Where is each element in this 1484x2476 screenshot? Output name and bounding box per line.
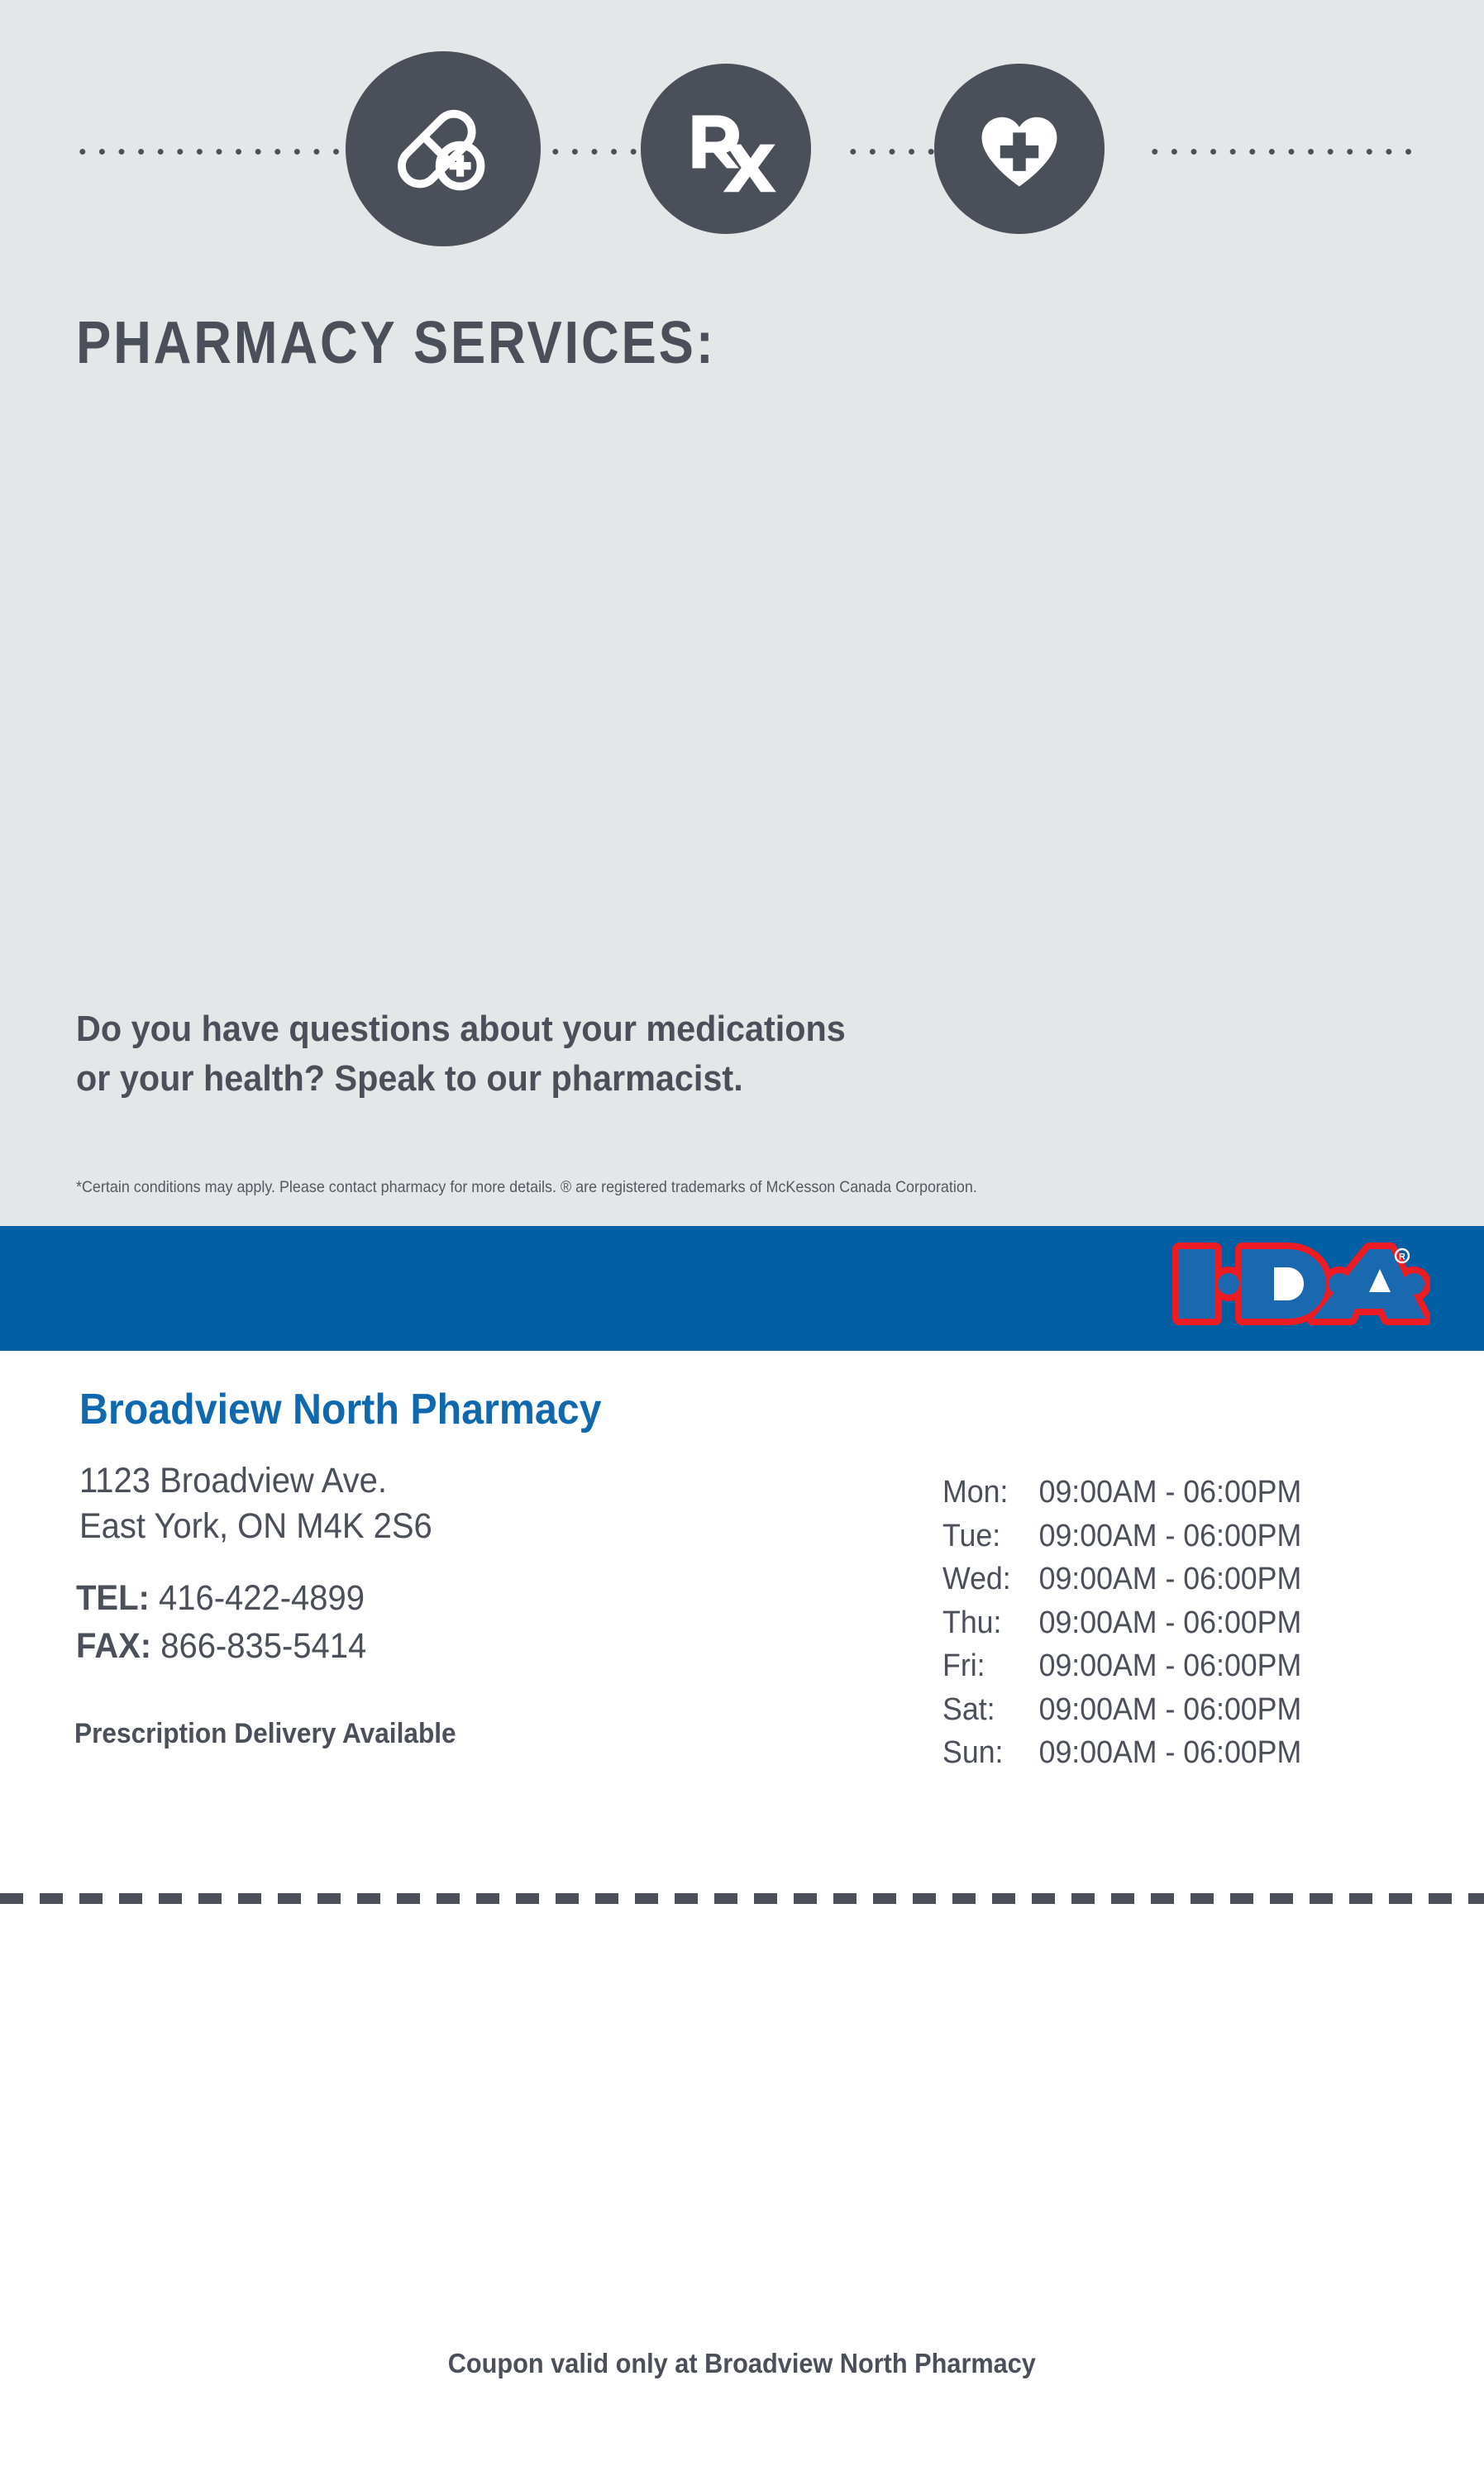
store-hours-table: Mon: 09:00AM - 06:00PM Tue: 09:00AM - 06…	[942, 1477, 1301, 1781]
fax-value: 866-835-5414	[160, 1626, 366, 1666]
telephone-label: TEL:	[76, 1578, 150, 1618]
hours-day: Wed:	[942, 1563, 1039, 1607]
fax-row: FAX: 866-835-5414	[76, 1622, 366, 1670]
hours-time: 09:00AM - 06:00PM	[1039, 1563, 1302, 1607]
hours-day: Mon:	[942, 1477, 1039, 1520]
table-row: Wed: 09:00AM - 06:00PM	[942, 1563, 1301, 1607]
question-line-2: or your health? Speak to our pharmacist.	[76, 1054, 846, 1104]
table-row: Sun: 09:00AM - 06:00PM	[942, 1737, 1301, 1781]
ida-logo: R	[1166, 1238, 1430, 1330]
table-row: Mon: 09:00AM - 06:00PM	[942, 1477, 1301, 1520]
hours-table-body: Mon: 09:00AM - 06:00PM Tue: 09:00AM - 06…	[942, 1477, 1301, 1781]
table-row: Tue: 09:00AM - 06:00PM	[942, 1520, 1301, 1564]
fax-label: FAX:	[76, 1626, 151, 1666]
hours-day: Sun:	[942, 1737, 1039, 1781]
telephone-row: TEL: 416-422-4899	[76, 1574, 366, 1622]
hours-time: 09:00AM - 06:00PM	[1039, 1520, 1302, 1564]
address-line-2: East York, ON M4K 2S6	[79, 1504, 432, 1549]
telephone-value[interactable]: 416-422-4899	[159, 1578, 365, 1618]
hours-time: 09:00AM - 06:00PM	[1039, 1650, 1302, 1694]
hours-time: 09:00AM - 06:00PM	[1039, 1477, 1302, 1520]
disclaimer-text: *Certain conditions may apply. Please co…	[76, 1178, 977, 1197]
question-line-1: Do you have questions about your medicat…	[76, 1004, 846, 1054]
pill-capsule-plus-icon	[346, 51, 541, 246]
store-name: Broadview North Pharmacy	[79, 1385, 602, 1434]
address-line-1: 1123 Broadview Ave.	[79, 1458, 432, 1504]
hours-day: Fri:	[942, 1650, 1039, 1694]
hours-time: 09:00AM - 06:00PM	[1039, 1607, 1302, 1651]
store-contact: TEL: 416-422-4899 FAX: 866-835-5414	[76, 1574, 366, 1671]
rx-prescription-icon	[641, 64, 811, 234]
service-icon-row	[0, 41, 1484, 248]
table-row: Sat: 09:00AM - 06:00PM	[942, 1694, 1301, 1738]
pharmacist-question-block: Do you have questions about your medicat…	[76, 1004, 846, 1104]
coupon-cut-line	[0, 1893, 1484, 1904]
heart-plus-icon	[934, 64, 1105, 234]
hours-day: Thu:	[942, 1607, 1039, 1651]
hours-time: 09:00AM - 06:00PM	[1039, 1694, 1302, 1738]
pharmacy-services-panel: PHARMACY SERVICES: Do you have questions…	[0, 0, 1484, 1226]
coupon-validity-note: Coupon valid only at Broadview North Pha…	[0, 2348, 1484, 2379]
page-title: PHARMACY SERVICES:	[76, 309, 716, 377]
store-info-section: Broadview North Pharmacy 1123 Broadview …	[0, 1351, 1484, 1885]
hours-day: Tue:	[942, 1520, 1039, 1564]
table-row: Fri: 09:00AM - 06:00PM	[942, 1650, 1301, 1694]
coupon-section: Coupon valid only at Broadview North Pha…	[0, 1904, 1484, 2476]
hours-table: Mon: 09:00AM - 06:00PM Tue: 09:00AM - 06…	[942, 1477, 1301, 1781]
svg-text:R: R	[1399, 1252, 1405, 1262]
hours-time: 09:00AM - 06:00PM	[1039, 1737, 1302, 1781]
brand-banner: R	[0, 1226, 1484, 1351]
coupon-validity-text: Coupon valid only at Broadview North Pha…	[448, 2348, 1036, 2379]
hours-day: Sat:	[942, 1694, 1039, 1738]
delivery-note: Prescription Delivery Available	[74, 1718, 456, 1750]
store-address: 1123 Broadview Ave. East York, ON M4K 2S…	[79, 1458, 432, 1549]
table-row: Thu: 09:00AM - 06:00PM	[942, 1607, 1301, 1651]
